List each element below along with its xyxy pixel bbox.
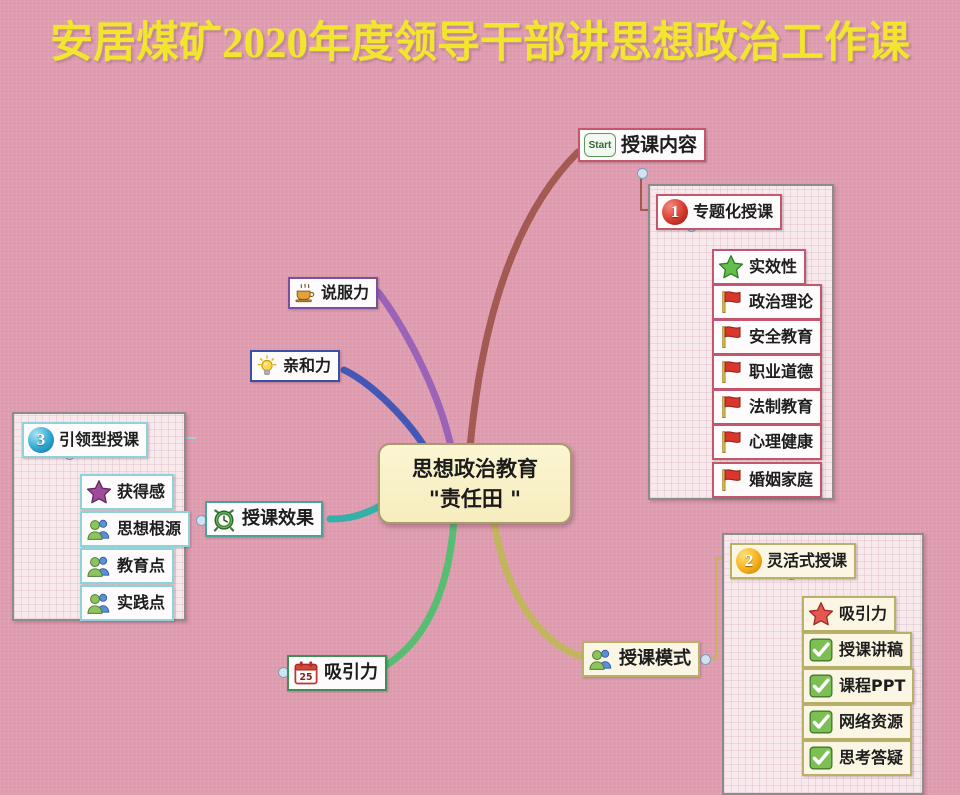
red-flag-icon — [718, 359, 744, 385]
child-label-flexible-3: 网络资源 — [839, 712, 903, 732]
branch-node-mode[interactable]: 授课模式 — [582, 641, 700, 677]
branch-node-attraction[interactable]: 25 吸引力 — [287, 655, 387, 691]
child-node-leading-3[interactable]: 实践点 — [80, 585, 174, 621]
badge-1-icon: 1 — [662, 199, 688, 225]
branch-label-attraction: 吸引力 — [324, 663, 378, 683]
green-check-icon — [808, 709, 834, 735]
people-icon — [588, 646, 614, 672]
child-label-thematic-5: 心理健康 — [749, 432, 813, 452]
green-star-icon — [718, 254, 744, 280]
child-node-leading-2[interactable]: 教育点 — [80, 548, 174, 584]
child-label-leading-0: 获得感 — [117, 482, 165, 502]
coffee-cup-icon — [294, 282, 316, 304]
child-label-thematic-4: 法制教育 — [749, 397, 813, 417]
branch-node-content[interactable]: Start 授课内容 — [578, 128, 706, 162]
branch-label-affinity: 亲和力 — [283, 356, 331, 376]
group-label-flexible: 灵活式授课 — [767, 551, 847, 571]
child-label-leading-2: 教育点 — [117, 556, 165, 576]
root-line-1: 思想政治教育 — [412, 454, 538, 484]
child-node-leading-0[interactable]: 获得感 — [80, 474, 174, 510]
red-flag-icon — [718, 324, 744, 350]
branch-label-mode: 授课模式 — [619, 649, 691, 669]
child-label-thematic-6: 婚姻家庭 — [749, 470, 813, 490]
group-label-leading: 引领型授课 — [59, 430, 139, 450]
child-node-flexible-4[interactable]: 思考答疑 — [802, 740, 912, 776]
group-node-thematic[interactable]: 1 专题化授课 — [656, 194, 782, 230]
child-node-thematic-0[interactable]: 实效性 — [712, 249, 806, 285]
branch-node-affinity[interactable]: 亲和力 — [250, 350, 340, 382]
group-node-leading[interactable]: 3 引领型授课 — [22, 422, 148, 458]
green-check-icon — [808, 637, 834, 663]
red-flag-icon — [718, 394, 744, 420]
collapse-dot-mode[interactable] — [700, 654, 711, 665]
branch-label-persuasion: 说服力 — [321, 283, 369, 303]
branch-node-persuasion[interactable]: 说服力 — [288, 277, 378, 309]
group-label-thematic: 专题化授课 — [693, 202, 773, 222]
child-node-flexible-1[interactable]: 授课讲稿 — [802, 632, 912, 668]
red-flag-icon — [718, 289, 744, 315]
people-icon — [86, 553, 112, 579]
child-node-leading-1[interactable]: 思想根源 — [80, 511, 190, 547]
page-title: 安居煤矿2020年度领导干部讲思想政治工作课 — [0, 18, 960, 70]
green-check-icon — [808, 673, 834, 699]
child-label-leading-3: 实践点 — [117, 593, 165, 613]
red-star-icon — [808, 601, 834, 627]
child-node-thematic-2[interactable]: 安全教育 — [712, 319, 822, 355]
group-node-flexible[interactable]: 2 灵活式授课 — [730, 543, 856, 579]
root-node[interactable]: 思想政治教育 "责任田 " — [378, 443, 572, 524]
child-node-flexible-2[interactable]: 课程PPT — [802, 668, 914, 704]
child-node-thematic-1[interactable]: 政治理论 — [712, 284, 822, 320]
purple-star-icon — [86, 479, 112, 505]
red-flag-icon — [718, 429, 744, 455]
red-flag-icon — [718, 467, 744, 493]
child-label-thematic-2: 安全教育 — [749, 327, 813, 347]
branch-label-content: 授课内容 — [621, 135, 697, 155]
people-icon — [86, 516, 112, 542]
branch-label-effect: 授课效果 — [242, 509, 314, 529]
child-node-thematic-5[interactable]: 心理健康 — [712, 424, 822, 460]
child-label-flexible-2: 课程PPT — [839, 676, 905, 696]
people-icon — [86, 590, 112, 616]
child-label-leading-1: 思想根源 — [117, 519, 181, 539]
alarm-clock-icon — [211, 506, 237, 532]
child-node-thematic-4[interactable]: 法制教育 — [712, 389, 822, 425]
child-label-thematic-0: 实效性 — [749, 257, 797, 277]
root-line-2: "责任田 " — [429, 484, 521, 514]
calendar-icon: 25 — [293, 660, 319, 686]
child-label-flexible-0: 吸引力 — [839, 604, 887, 624]
svg-text:25: 25 — [300, 672, 313, 683]
child-node-flexible-3[interactable]: 网络资源 — [802, 704, 912, 740]
child-node-thematic-6[interactable]: 婚姻家庭 — [712, 462, 822, 498]
lightbulb-icon — [256, 355, 278, 377]
child-label-flexible-4: 思考答疑 — [839, 748, 903, 768]
green-check-icon — [808, 745, 834, 771]
child-label-thematic-3: 职业道德 — [749, 362, 813, 382]
badge-2-icon: 2 — [736, 548, 762, 574]
badge-3-icon: 3 — [28, 427, 54, 453]
collapse-dot-content[interactable] — [637, 168, 648, 179]
child-label-flexible-1: 授课讲稿 — [839, 640, 903, 660]
child-label-thematic-1: 政治理论 — [749, 292, 813, 312]
start-badge-icon: Start — [584, 133, 616, 157]
branch-node-effect[interactable]: 授课效果 — [205, 501, 323, 537]
child-node-flexible-0[interactable]: 吸引力 — [802, 596, 896, 632]
child-node-thematic-3[interactable]: 职业道德 — [712, 354, 822, 390]
